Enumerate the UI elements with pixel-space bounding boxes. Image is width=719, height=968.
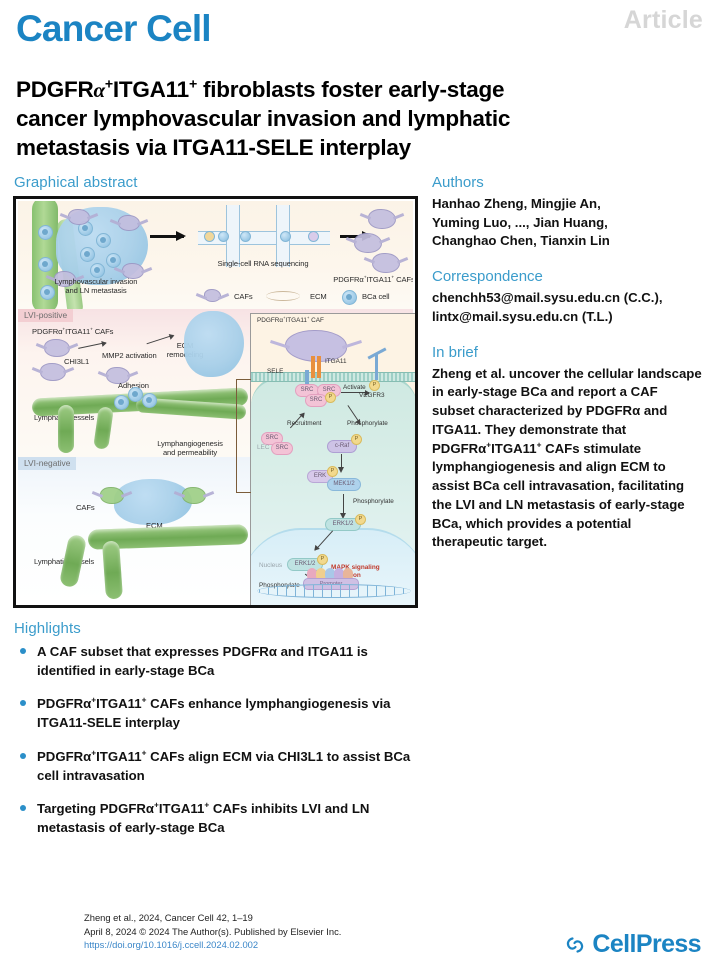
authors-list: Hanhao Zheng, Mingjie An,Yuming Luo, ...… [432, 195, 702, 251]
highlights-heading: Highlights [14, 620, 81, 637]
signaling-pathway-inset: PDGFRα+ITGA11+ CAF ITGA11 SELE SRC SRC S… [250, 313, 418, 607]
itga11-receptor-shape-2 [317, 356, 321, 378]
spacer [432, 327, 702, 344]
journal-title-logo: Cancer Cell [16, 10, 211, 47]
in-brief-text: Zheng et al. uncover the cellular landsc… [432, 365, 702, 552]
in-brief-heading: In brief [432, 344, 702, 361]
sequencing-droplet [218, 231, 229, 242]
mek-to-erk-arrow [343, 494, 344, 514]
graphical-abstract-heading: Graphical abstract [14, 174, 138, 191]
title-part-1: PDGFR [16, 77, 94, 102]
src-pill-5: SRC [271, 442, 293, 455]
caf-label-pre: PDGFR [333, 275, 359, 284]
caf-label-mid: ITGA11 [366, 275, 391, 284]
title-alpha-symbol: α [94, 78, 105, 102]
title-sup-2: + [189, 77, 197, 93]
citation-line-1: Zheng et al., 2024, Cancer Cell 42, 1–19 [84, 911, 341, 925]
bca-cell-shape [38, 225, 53, 240]
cellpress-logo: CellPress [563, 932, 701, 957]
caf-cell-shape [100, 487, 124, 504]
highlight-3-pre: PDGFR [37, 749, 83, 764]
list-item: Targeting PDGFRα+ITGA11+ CAFs inhibits L… [16, 799, 426, 837]
figure-top-panel: Single-cell RNA sequencing PDGFRα+ITGA11… [18, 201, 413, 310]
arrow-to-mmp2 [78, 342, 106, 349]
page-title: PDGFRα+ITGA11+ fibroblasts foster early-… [16, 75, 576, 162]
craf-to-mek-arrow [341, 454, 342, 468]
bca-cell-shape [38, 257, 53, 272]
in-brief-alpha-1: α [632, 403, 640, 418]
authors-heading: Authors [432, 174, 702, 191]
nucleus-label: Nucleus [259, 562, 282, 570]
phosphorylate-label-2: Phosphorylate [353, 498, 394, 506]
authors-line-1: Hanhao Zheng, Mingjie An, [432, 196, 601, 211]
erk12-nuclear-phospho-dot: P [317, 554, 328, 565]
legend-caf-icon [204, 289, 221, 302]
sequencing-droplet [280, 231, 291, 242]
title-part-2: ITGA11 [113, 77, 189, 102]
lec-label: LEC [257, 444, 269, 452]
spacer [432, 251, 702, 268]
caf-cell-shape [40, 363, 66, 381]
panel-connector-line [236, 379, 251, 493]
doi-link[interactable]: https://doi.org/10.1016/j.ccell.2024.02.… [84, 938, 341, 952]
lvi-negative-cafs-label: CAFs [76, 503, 95, 512]
in-brief-part-d: CAFs stimulate lymphangiogenesis and ali… [432, 441, 685, 550]
legend-ecm-label: ECM [310, 292, 327, 301]
article-type-kicker: Article [624, 6, 703, 35]
title-sup-1: + [105, 77, 113, 93]
legend-bca-icon [342, 290, 357, 305]
correspondence-emails: chenchh53@mail.sysu.edu.cn (C.C.),lintx@… [432, 289, 702, 326]
correspondence-line-2[interactable]: lintx@mail.sysu.edu.cn (T.L.) [432, 309, 613, 324]
lymphangiogenesis-label: Lymphangiogenesis and permeability [144, 439, 236, 457]
dna-strand [257, 584, 411, 598]
tumor-cluster-shape [184, 311, 244, 377]
phosphorylate-label-1: Phosphorylate [347, 420, 388, 428]
sig-caf-pre: PDGFR [257, 317, 279, 324]
bca-cell-shape [90, 263, 105, 278]
lvi-positive-caf-label: PDGFRα+ITGA11+ CAFs [32, 327, 113, 336]
bca-cell-shape [80, 247, 95, 262]
sig-caf-post: CAF [309, 317, 324, 324]
legend-bca-label: BCa cell [362, 292, 389, 301]
bca-cell-shape [114, 395, 129, 410]
bca-cell-shape [128, 387, 143, 402]
lp-caf-post: CAFs [93, 327, 114, 336]
itga11-label: ITGA11 [325, 358, 347, 366]
in-brief-part-c: ITGA11 [491, 441, 536, 456]
lvi-negative-band-label: LVI-negative [18, 457, 76, 470]
cellpress-wordmark: CellPress [592, 932, 701, 957]
erk12-phospho-dot: P [355, 514, 366, 525]
sequencing-droplet [204, 231, 215, 242]
journal-cover-page: Article Cancer Cell PDGFRα+ITGA11+ fibro… [0, 0, 719, 968]
highlight-2-mid: ITGA11 [96, 696, 141, 711]
mek-pill: MEK1/2 [327, 478, 361, 491]
correspondence-line-1[interactable]: chenchh53@mail.sysu.edu.cn (C.C.), [432, 290, 663, 305]
flow-arrow-1 [150, 235, 184, 238]
caf-cell-shape [118, 215, 140, 231]
output-caf-label: PDGFRα+ITGA11+ CAFs [330, 275, 413, 284]
lp-caf-pre: PDGFR [32, 327, 58, 336]
lp-caf-mid: ITGA11 [65, 327, 90, 336]
vegfr3-receptor-stem [375, 354, 378, 380]
highlight-3-mid: ITGA11 [96, 749, 141, 764]
bca-cell-shape [142, 393, 157, 408]
output-caf-shape [372, 253, 400, 273]
highlight-4-pre: Targeting PDGFR [37, 801, 146, 816]
chain-link-icon [563, 933, 587, 957]
legend-caf-label: CAFs [234, 292, 253, 301]
craf-phospho-dot: P [351, 434, 362, 445]
caf-cell-shape [44, 339, 70, 357]
authors-line-2: Yuming Luo, ..., Jian Huang, [432, 215, 608, 230]
bca-cell-shape [106, 253, 121, 268]
sequencing-droplet [308, 231, 319, 242]
output-caf-shape [354, 233, 382, 253]
citation-line-2: April 8, 2024 © 2024 The Author(s). Publ… [84, 925, 341, 939]
lvi-positive-band-label: LVI-positive [18, 309, 73, 322]
highlight-1-alpha: α [269, 644, 277, 659]
recruitment-label: Recruitment [287, 420, 321, 428]
lymphatic-branch-shape [58, 405, 74, 453]
signaling-caf-title: PDGFRα+ITGA11+ CAF [257, 317, 324, 325]
caf-label-post: CAFs [394, 275, 413, 284]
src-pill-3: SRC [305, 394, 327, 407]
output-caf-shape [368, 209, 396, 229]
highlight-4-alpha: α [146, 801, 154, 816]
graphical-abstract-figure: Single-cell RNA sequencing PDGFRα+ITGA11… [13, 196, 418, 608]
highlight-4-mid: ITGA11 [159, 801, 204, 816]
highlights-list: A CAF subset that expresses PDGFRα and I… [16, 642, 426, 851]
citation-footer: Zheng et al., 2024, Cancer Cell 42, 1–19… [84, 911, 341, 952]
highlight-2-pre: PDGFR [37, 696, 83, 711]
itga11-receptor-shape [311, 356, 315, 378]
correspondence-heading: Correspondence [432, 268, 702, 285]
erk-a-phospho-dot: P [327, 466, 338, 477]
metadata-column: Authors Hanhao Zheng, Mingjie An,Yuming … [432, 174, 702, 552]
bca-cell-shape [96, 233, 111, 248]
chi3l1-label: CHI3L1 [64, 357, 89, 366]
vegfr3-label: VEGFR3 [359, 392, 385, 400]
list-item: PDGFRα+ITGA11+ CAFs enhance lymphangioge… [16, 694, 426, 732]
mmp2-label: MMP2 activation [102, 351, 157, 360]
legend-ecm-icon [266, 291, 300, 301]
figure-canvas: Single-cell RNA sequencing PDGFRα+ITGA11… [18, 201, 413, 603]
list-item: A CAF subset that expresses PDGFRα and I… [16, 642, 426, 680]
vegfr3-phospho-dot: P [369, 380, 380, 391]
activate-label: Activate [343, 384, 366, 392]
sequencing-droplet [240, 231, 251, 242]
authors-line-3: Changhao Chen, Tianxin Lin [432, 233, 610, 248]
highlight-1-pre: A CAF subset that expresses PDGFR [37, 644, 269, 659]
tumor-cluster-shape [114, 479, 192, 525]
caf-cell-shape [182, 487, 206, 504]
phospho-dot: P [325, 392, 336, 403]
caf-cell-shape [68, 209, 90, 225]
lymphatic-branch-shape [102, 540, 123, 599]
figure-legend: CAFs ECM BCa cell [18, 287, 413, 307]
sequencing-label: Single-cell RNA sequencing [188, 259, 338, 268]
list-item: PDGFRα+ITGA11+ CAFs align ECM via CHI3L1… [16, 747, 426, 785]
sig-caf-mid: ITGA11 [285, 317, 307, 324]
sele-label: SELE [267, 368, 283, 376]
